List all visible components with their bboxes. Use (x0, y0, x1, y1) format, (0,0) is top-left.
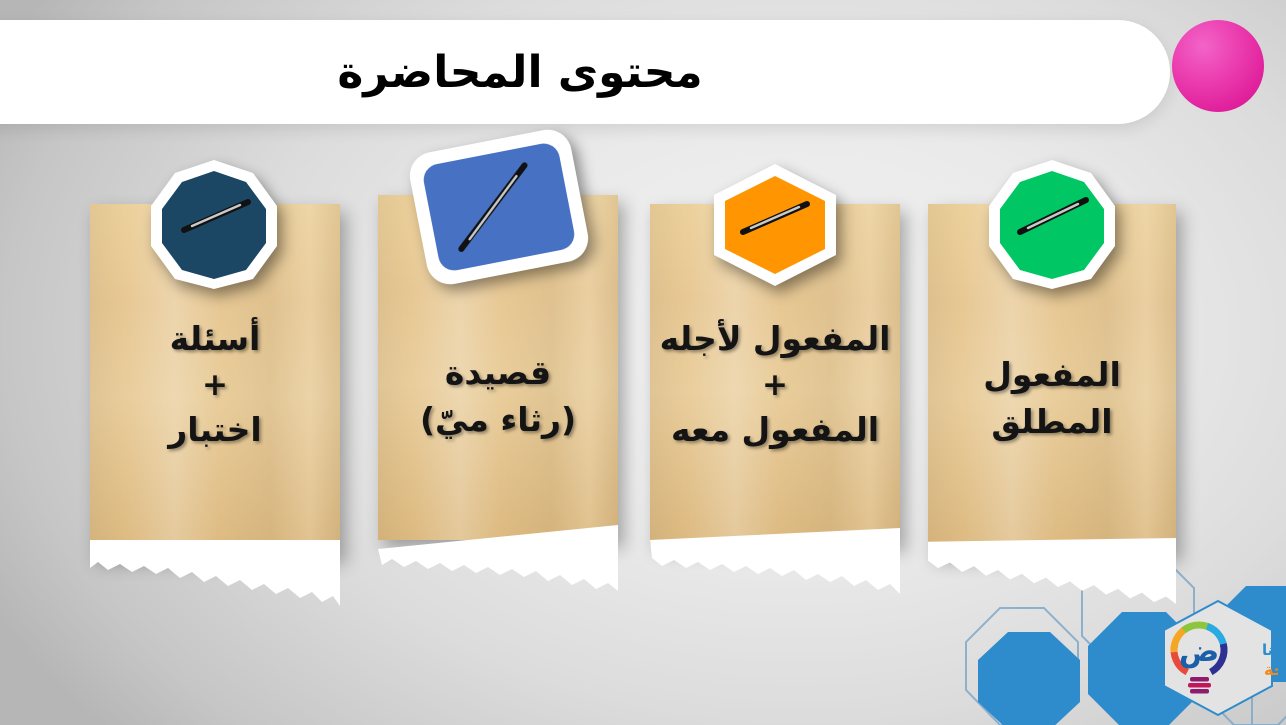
decagon-badge-green[interactable] (986, 158, 1118, 290)
card-line: اختبار (168, 410, 261, 449)
torn-paper-edge (928, 538, 1176, 604)
card-line: المفعول (983, 355, 1121, 394)
card-line: المفعول معه (671, 410, 879, 449)
torn-paper-edge (650, 528, 900, 594)
logo-line1: لغتنا (1262, 641, 1278, 659)
card-maful-lajlih[interactable]: المفعول لأجله + المفعول معه (650, 204, 900, 599)
card-line: + (650, 363, 900, 407)
card-text: أسئلة + اختبار (90, 316, 340, 454)
card-line: أسئلة (170, 319, 261, 358)
card-line: + (90, 363, 340, 407)
card-text: المفعول لأجله + المفعول معه (650, 316, 900, 454)
logo-letter: ض (1179, 634, 1219, 669)
card-text: قصيدة (رثاء ميّ) (378, 350, 618, 444)
slide-root: محتوى المحاضرة (0, 0, 1286, 725)
card-line: قصيدة (445, 353, 551, 392)
card-line: (رثاء ميّ) (420, 400, 576, 439)
card-poem[interactable]: قصيدة (رثاء ميّ) (378, 195, 618, 595)
hexagon-badge-orange[interactable] (708, 162, 842, 288)
card-maful-mutlaq[interactable]: المفعول المطلق (928, 204, 1176, 614)
content-cards: أسئلة + اختبار (0, 0, 1286, 725)
card-text: المفعول المطلق (928, 352, 1176, 446)
lughatuna-alwadiha-logo[interactable]: ض لغتنا الواضحة (1158, 599, 1278, 717)
torn-paper-edge (378, 525, 618, 591)
card-questions-exam[interactable]: أسئلة + اختبار (90, 204, 340, 616)
decagon-badge-dark-blue[interactable] (148, 158, 280, 290)
logo-line2: الواضحة (1264, 660, 1278, 679)
torn-paper-edge (90, 540, 340, 606)
card-line: المفعول لأجله (660, 319, 891, 358)
card-line: المطلق (991, 402, 1112, 441)
pink-circle-decoration (1172, 20, 1264, 112)
